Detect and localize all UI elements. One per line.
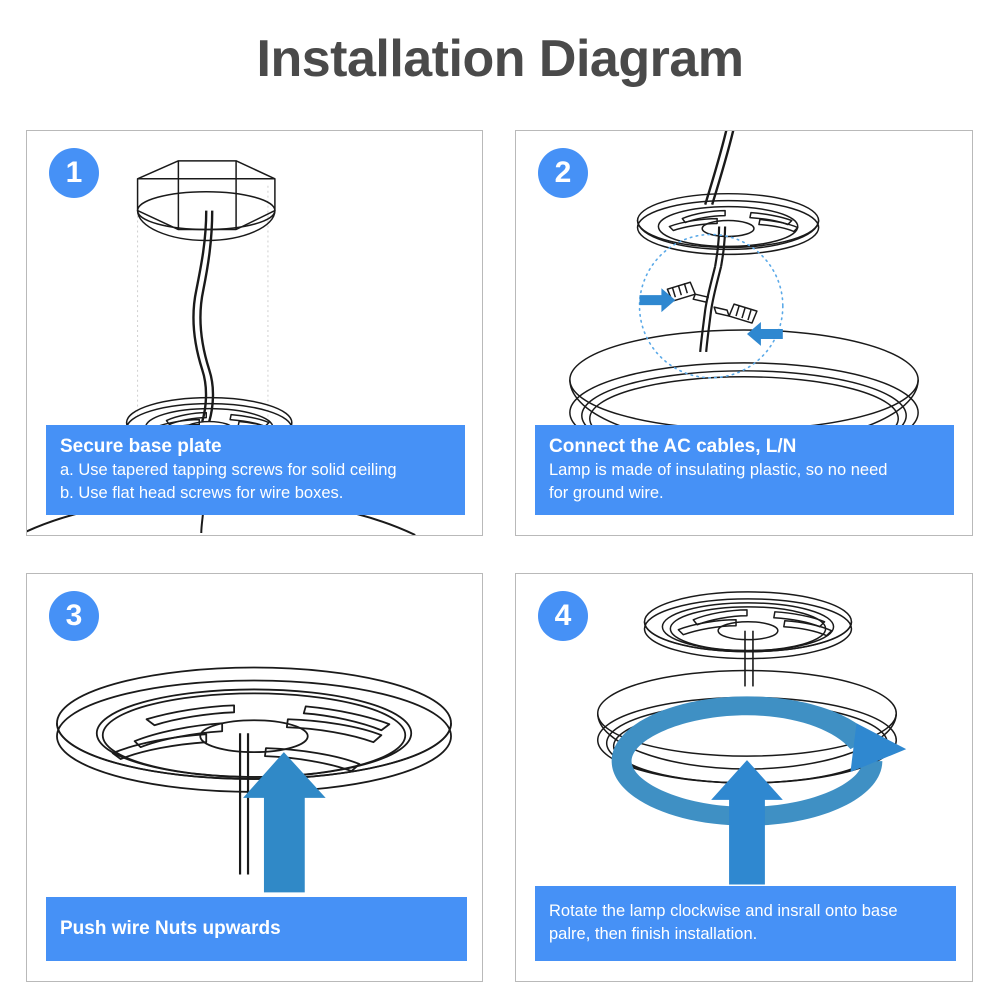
octagonal-junction-box	[138, 161, 275, 241]
step-1-caption-title: Secure base plate	[60, 434, 451, 459]
blue-up-arrow	[243, 752, 326, 892]
step-1-caption-line-b: b. Use flat head screws for wire boxes.	[60, 482, 451, 505]
step-2-caption-title: Connect the AC cables, L/N	[549, 434, 940, 459]
blue-arrow-left	[640, 288, 676, 312]
step-2-caption-line-2: for ground wire.	[549, 482, 940, 505]
step-panel-1: 1	[26, 130, 483, 536]
blue-rotation-ring-arrow	[612, 696, 907, 825]
wire-nut-right	[714, 304, 757, 323]
blue-arrow-right	[747, 322, 783, 346]
step-1-caption-line-a: a. Use tapered tapping screws for solid …	[60, 459, 451, 482]
step-1-caption: Secure base plate a. Use tapered tapping…	[46, 425, 465, 515]
dotted-detail-circle	[640, 234, 783, 377]
step-2-caption-line-1: Lamp is made of insulating plastic, so n…	[549, 459, 940, 482]
page-title: Installation Diagram	[0, 28, 1000, 90]
step-4-caption-line-2: palre, then finish installation.	[549, 923, 942, 946]
supply-wire	[705, 131, 727, 205]
step-panel-4: 4	[515, 573, 973, 982]
base-plate-mounted	[638, 194, 819, 255]
step-badge-4: 4	[538, 591, 588, 641]
step-3-caption-title: Push wire Nuts upwards	[60, 916, 453, 941]
step-badge-3: 3	[49, 591, 99, 641]
step-panel-2: 2	[515, 130, 973, 536]
large-base-plate-with-vents	[57, 668, 451, 792]
wire-nut-left	[667, 282, 708, 302]
step-badge-2: 2	[538, 148, 588, 198]
step-4-caption: Rotate the lamp clockwise and insrall on…	[535, 886, 956, 961]
step-3-caption: Push wire Nuts upwards	[46, 897, 467, 961]
step-2-caption: Connect the AC cables, L/N Lamp is made …	[535, 425, 954, 515]
ac-supply-wire	[193, 211, 206, 422]
blue-up-arrow	[711, 760, 783, 884]
step-4-caption-line-1: Rotate the lamp clockwise and insrall on…	[549, 900, 942, 923]
lamp-body-disc	[598, 671, 897, 783]
step-badge-1: 1	[49, 148, 99, 198]
step-panel-3: 3	[26, 573, 483, 982]
center-post	[745, 631, 753, 687]
base-plate-top	[644, 592, 851, 659]
installation-diagram-page: Installation Diagram 1	[0, 0, 1000, 1000]
